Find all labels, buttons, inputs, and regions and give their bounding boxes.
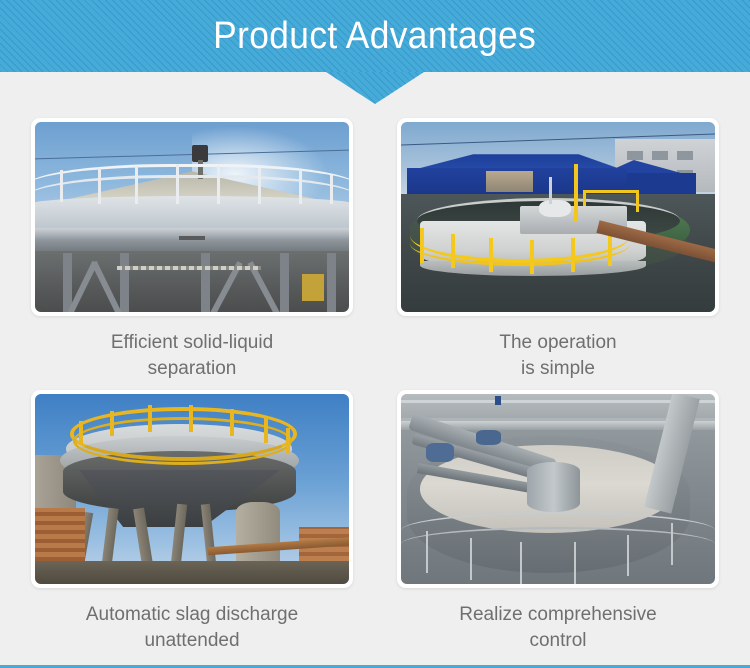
advantage-caption-3: Automatic slag discharge unattended [21, 602, 363, 654]
photo-frame-1 [31, 118, 353, 316]
header-banner: Product Advantages [0, 0, 750, 72]
photo-gray-clarifier [401, 394, 715, 584]
photo-elevated-tank [35, 394, 349, 584]
advantage-caption-1: Efficient solid-liquid separation [21, 330, 363, 382]
photo-frame-2 [397, 118, 719, 316]
advantage-card-1[interactable]: Efficient solid-liquid separation [21, 118, 363, 382]
page-title: Product Advantages [213, 17, 536, 55]
advantage-card-3[interactable]: Automatic slag discharge unattended [21, 390, 363, 654]
photo-frame-4 [397, 390, 719, 588]
photo-thickener-yellow-railing [401, 122, 715, 312]
advantage-card-2[interactable]: The operation is simple [387, 118, 729, 382]
advantage-card-4[interactable]: Realize comprehensive control [387, 390, 729, 654]
photo-frame-3 [31, 390, 353, 588]
advantage-caption-4: Realize comprehensive control [387, 602, 729, 654]
advantages-grid: Efficient solid-liquid separation [0, 118, 750, 654]
header: Product Advantages [0, 0, 750, 72]
photo-thickener-white-railing [35, 122, 349, 312]
advantage-caption-2: The operation is simple [387, 330, 729, 382]
